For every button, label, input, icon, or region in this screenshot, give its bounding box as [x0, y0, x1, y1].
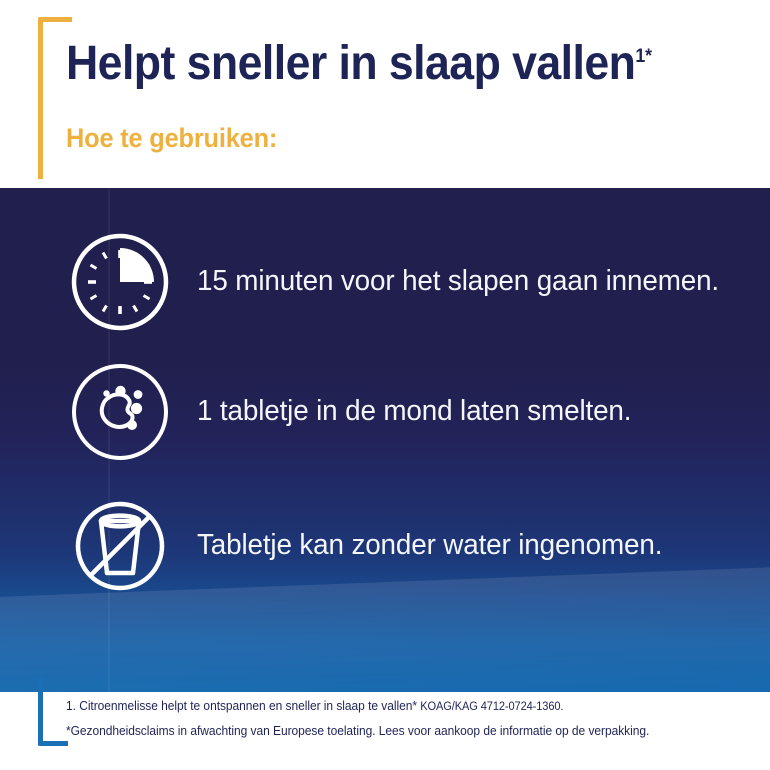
dissolving-tablet-icon [68, 360, 172, 464]
footnotes: 1. Citroenmelisse helpt te ontspannen en… [66, 697, 746, 747]
list-item-label: 1 tabletje in de mond laten smelten. [197, 395, 631, 428]
footnote-text: *Gezondheidsclaims in afwachting van Eur… [66, 724, 649, 738]
footnote-code: KOAG/KAG 4712-0724-1360. [420, 701, 563, 713]
page-title-superscript: 1* [635, 46, 652, 67]
clock-quarter-icon [68, 230, 172, 334]
footnote-line: *Gezondheidsclaims in afwachting van Eur… [66, 722, 719, 741]
footnote-line: 1. Citroenmelisse helpt te ontspannen en… [66, 697, 719, 716]
list-item: 15 minuten voor het slapen gaan innemen. [68, 230, 758, 334]
advertisement-banner: Helpt sneller in slaap vallen1* Hoe te g… [0, 0, 770, 770]
list-item-label: 15 minuten voor het slapen gaan innemen. [197, 265, 719, 298]
list-item: 1 tabletje in de mond laten smelten. [68, 360, 758, 464]
instruction-list: 15 minuten voor het slapen gaan innemen. [0, 188, 770, 692]
page-title: Helpt sneller in slaap vallen1* [66, 40, 708, 88]
instructions-panel: 15 minuten voor het slapen gaan innemen. [0, 188, 770, 692]
list-item: Tabletje kan zonder water ingenomen. [68, 494, 758, 598]
page-subtitle: Hoe te gebruiken: [66, 124, 277, 154]
corner-bracket-icon [38, 678, 68, 746]
list-item-label: Tabletje kan zonder water ingenomen. [197, 529, 662, 562]
no-water-glass-icon [68, 494, 172, 598]
header-section: Helpt sneller in slaap vallen1* Hoe te g… [0, 0, 770, 188]
footer-section: 1. Citroenmelisse helpt te ontspannen en… [0, 692, 770, 770]
page-title-text: Helpt sneller in slaap vallen [66, 37, 635, 90]
footnote-text: 1. Citroenmelisse helpt te ontspannen en… [66, 699, 417, 713]
